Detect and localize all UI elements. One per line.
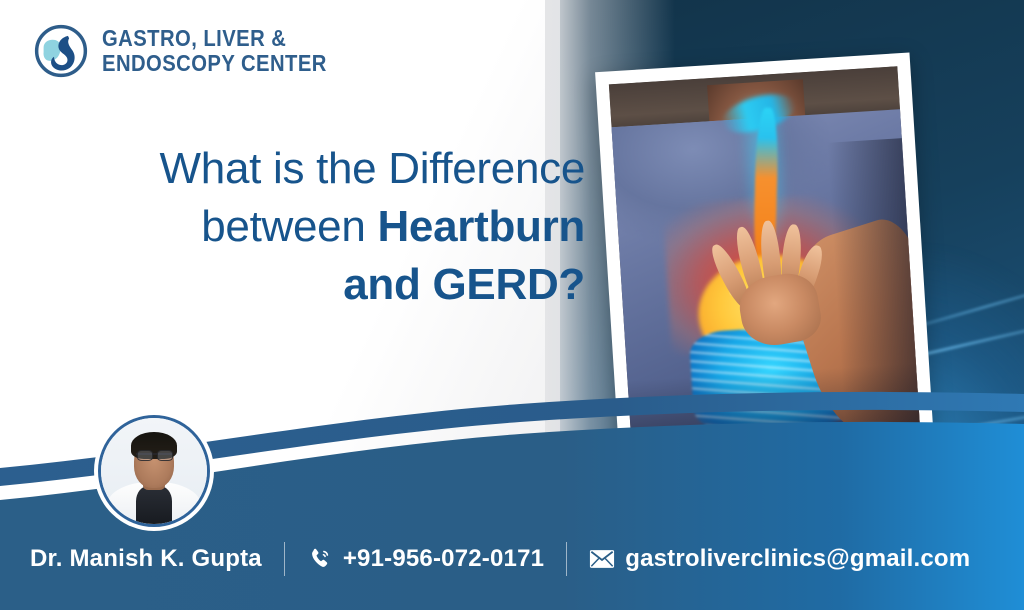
phone-number: +91-956-072-0171 [343, 545, 544, 573]
photo-hand [716, 216, 828, 345]
phone-contact[interactable]: +91-956-072-0171 [307, 545, 544, 573]
brand-logo[interactable]: GASTRO, LIVER & ENDOSCOPY CENTER [32, 22, 358, 80]
email-address: gastroliverclinics@gmail.com [625, 545, 970, 573]
email-contact[interactable]: gastroliverclinics@gmail.com [589, 545, 970, 573]
brand-line-1: GASTRO, LIVER & [102, 27, 327, 50]
headline-line-2-regular: between [201, 202, 377, 251]
brand-logo-text: GASTRO, LIVER & ENDOSCOPY CENTER [102, 27, 358, 75]
stomach-liver-circle-icon [32, 22, 90, 80]
headline-line-1: What is the Difference [40, 140, 585, 198]
doctor-avatar [98, 415, 210, 527]
page-title: What is the Difference between Heartburn… [40, 140, 585, 314]
avatar-shirt [136, 486, 172, 527]
phone-icon [307, 546, 333, 572]
doctor-name: Dr. Manish K. Gupta [30, 545, 262, 573]
avatar-glasses-lens [137, 450, 153, 462]
banner-root: GASTRO, LIVER & ENDOSCOPY CENTER What is… [0, 0, 1024, 610]
headline-line-2: between Heartburn [40, 198, 585, 256]
avatar-glasses-lens [157, 450, 173, 462]
envelope-icon [589, 546, 615, 572]
divider [284, 542, 285, 576]
headline-line-2-bold: Heartburn [377, 202, 585, 251]
headline-line-3: and GERD? [40, 256, 585, 314]
brand-line-2: ENDOSCOPY CENTER [102, 52, 327, 75]
divider [566, 542, 567, 576]
footer-contact-bar: Dr. Manish K. Gupta +91-956-072-0171 gas… [30, 538, 970, 580]
